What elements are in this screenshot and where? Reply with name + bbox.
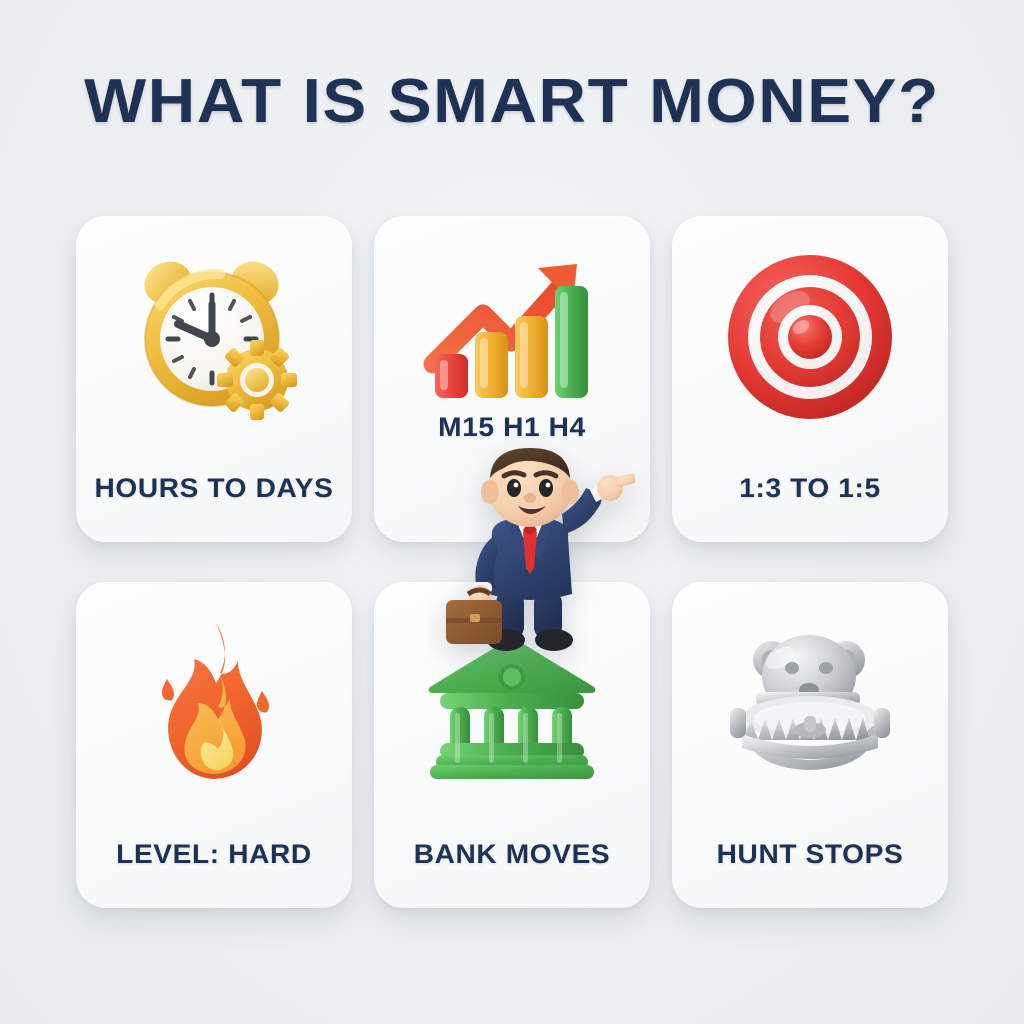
card-label: 1:3 TO 1:5 [673,473,948,504]
card-label: M15 H1 H4 [375,412,650,443]
card-risk-reward[interactable]: 1:3 TO 1:5 [672,216,948,542]
card-timeframe-duration[interactable]: HOURS TO DAYS [76,216,352,542]
bullseye-target-icon [672,242,948,432]
rising-bar-chart-icon [374,234,650,409]
bear-trap-icon [672,608,948,798]
alarm-clock-gear-icon [76,242,352,432]
page-title: WHAT IS SMART MONEY? [0,66,1024,137]
card-difficulty[interactable]: LEVEL: HARD [76,582,352,908]
card-stop-hunt[interactable]: HUNT STOPS [672,582,948,908]
card-label: HUNT STOPS [673,839,948,870]
card-grid: HOURS TO DAYS [76,216,948,908]
card-label: HOURS TO DAYS [77,473,352,504]
bank-building-icon [374,608,650,798]
infographic-poster: WHAT IS SMART MONEY? [0,0,1024,1024]
card-institutional-flow[interactable]: BANK MOVES [374,582,650,908]
fire-flame-icon [76,608,352,798]
card-label: LEVEL: HARD [77,839,352,870]
card-label: BANK MOVES [375,839,650,870]
card-timeframes[interactable]: M15 H1 H4 [374,216,650,542]
